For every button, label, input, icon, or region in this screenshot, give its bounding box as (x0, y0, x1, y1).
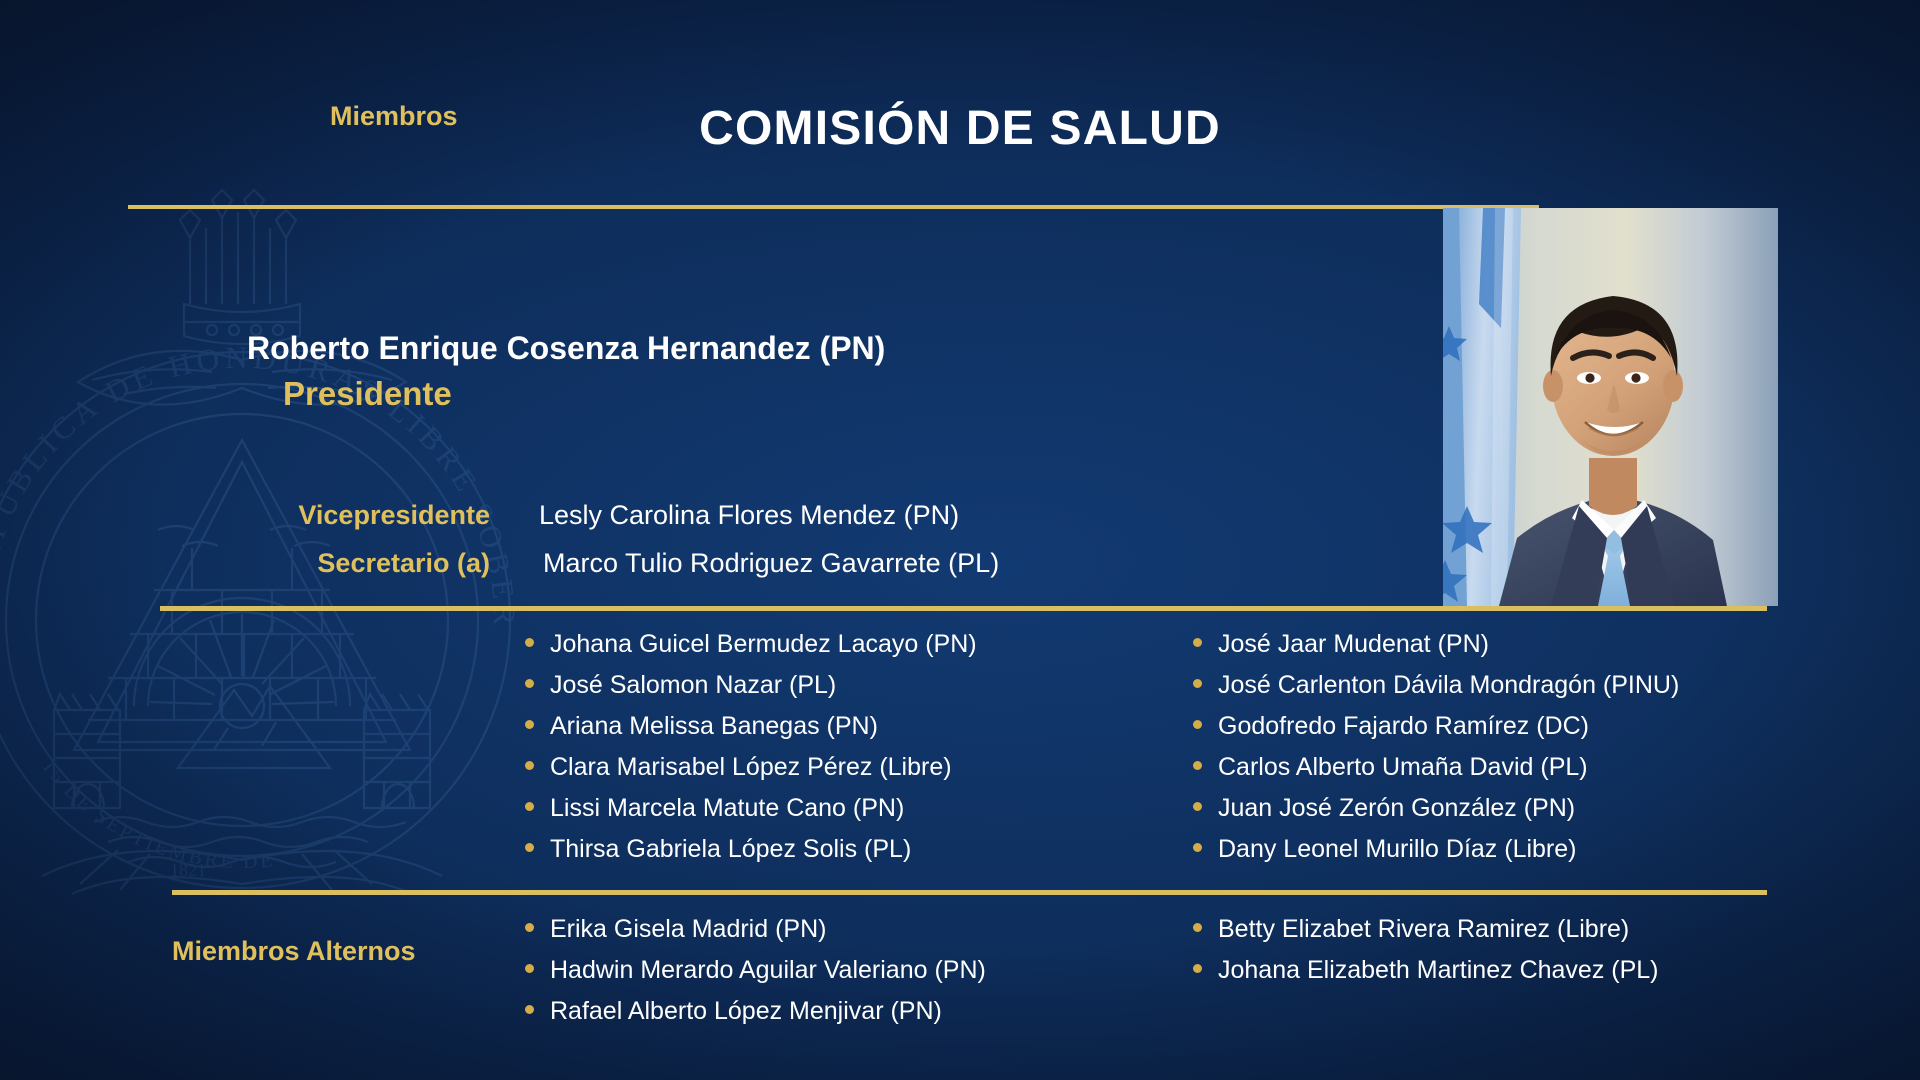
member-name: Ariana Melissa Banegas (PN) (550, 712, 878, 741)
president-name: Roberto Enrique Cosenza Hernandez (PN) (247, 330, 885, 367)
officer-label-vicepresidente: Vicepresidente (240, 500, 490, 531)
member-name: Clara Marisabel López Pérez (Libre) (550, 753, 952, 782)
bullet-icon (1193, 802, 1202, 811)
president-photo (1443, 208, 1778, 606)
president-role-label: Presidente (283, 375, 885, 413)
officer-label-secretario: Secretario (a) (240, 548, 490, 579)
divider-middle (160, 606, 1767, 611)
list-item: Godofredo Fajardo Ramírez (DC) (1193, 712, 1679, 741)
list-item: Juan José Zerón González (PN) (1193, 794, 1679, 823)
bullet-icon (525, 638, 534, 647)
list-item: Ariana Melissa Banegas (PN) (525, 712, 977, 741)
member-name: Dany Leonel Murillo Díaz (Libre) (1218, 835, 1576, 864)
page-title: COMISIÓN DE SALUD (0, 101, 1920, 156)
list-item: Carlos Alberto Umaña David (PL) (1193, 753, 1679, 782)
bullet-icon (525, 802, 534, 811)
bullet-icon (1193, 761, 1202, 770)
member-name: José Carlenton Dávila Mondragón (PINU) (1218, 671, 1679, 700)
svg-text:1821: 1821 (170, 860, 206, 880)
alternates-column-left: Erika Gisela Madrid (PN) Hadwin Merardo … (525, 915, 986, 1038)
bullet-icon (1193, 720, 1202, 729)
members-column-right: José Jaar Mudenat (PN) José Carlenton Dá… (1193, 630, 1679, 876)
member-name: Carlos Alberto Umaña David (PL) (1218, 753, 1588, 782)
bullet-icon (525, 761, 534, 770)
officer-row-vicepresidente: Vicepresidente Lesly Carolina Flores Men… (240, 500, 959, 531)
officer-row-secretario: Secretario (a) Marco Tulio Rodriguez Gav… (240, 548, 999, 579)
bullet-icon (525, 843, 534, 852)
officer-name-vicepresidente: Lesly Carolina Flores Mendez (PN) (539, 500, 959, 531)
bullet-icon (1193, 679, 1202, 688)
divider-bottom (172, 890, 1767, 895)
members-column-left: Johana Guicel Bermudez Lacayo (PN) José … (525, 630, 977, 876)
alternate-name: Rafael Alberto López Menjivar (PN) (550, 997, 942, 1026)
list-item: Rafael Alberto López Menjivar (PN) (525, 997, 986, 1026)
list-item: Thirsa Gabriela López Solis (PL) (525, 835, 977, 864)
list-item: Hadwin Merardo Aguilar Valeriano (PN) (525, 956, 986, 985)
divider-top (128, 205, 1539, 209)
list-item: Lissi Marcela Matute Cano (PN) (525, 794, 977, 823)
member-name: Thirsa Gabriela López Solis (PL) (550, 835, 911, 864)
member-name: Juan José Zerón González (PN) (1218, 794, 1575, 823)
bullet-icon (525, 720, 534, 729)
list-item: Johana Elizabeth Martinez Chavez (PL) (1193, 956, 1659, 985)
bullet-icon (1193, 923, 1202, 932)
svg-text:15 DE SEPTIEMBRE DE: 15 DE SEPTIEMBRE DE (37, 755, 276, 873)
member-name: José Salomon Nazar (PL) (550, 671, 836, 700)
member-name: Godofredo Fajardo Ramírez (DC) (1218, 712, 1589, 741)
bullet-icon (1193, 843, 1202, 852)
member-name: Lissi Marcela Matute Cano (PN) (550, 794, 904, 823)
alternate-name: Johana Elizabeth Martinez Chavez (PL) (1218, 956, 1659, 985)
alternates-column-right: Betty Elizabet Rivera Ramirez (Libre) Jo… (1193, 915, 1659, 997)
bullet-icon (525, 964, 534, 973)
list-item: José Salomon Nazar (PL) (525, 671, 977, 700)
list-item: Dany Leonel Murillo Díaz (Libre) (1193, 835, 1679, 864)
alternate-name: Hadwin Merardo Aguilar Valeriano (PN) (550, 956, 986, 985)
member-name: José Jaar Mudenat (PN) (1218, 630, 1489, 659)
list-item: Erika Gisela Madrid (PN) (525, 915, 986, 944)
list-item: Clara Marisabel López Pérez (Libre) (525, 753, 977, 782)
alternate-name: Erika Gisela Madrid (PN) (550, 915, 826, 944)
bullet-icon (525, 923, 534, 932)
alternates-section-label: Miembros Alternos (172, 936, 416, 967)
alternate-name: Betty Elizabet Rivera Ramirez (Libre) (1218, 915, 1629, 944)
list-item: José Jaar Mudenat (PN) (1193, 630, 1679, 659)
officer-name-secretario: Marco Tulio Rodriguez Gavarrete (PL) (543, 548, 999, 579)
bullet-icon (1193, 964, 1202, 973)
bullet-icon (525, 679, 534, 688)
member-name: Johana Guicel Bermudez Lacayo (PN) (550, 630, 977, 659)
slide-root: REPUBLICA DE HONDURAS LIBRE SOBERANA E I… (0, 0, 1920, 1080)
list-item: Betty Elizabet Rivera Ramirez (Libre) (1193, 915, 1659, 944)
president-block: Roberto Enrique Cosenza Hernandez (PN) P… (247, 330, 885, 413)
bullet-icon (525, 1005, 534, 1014)
list-item: Johana Guicel Bermudez Lacayo (PN) (525, 630, 977, 659)
list-item: José Carlenton Dávila Mondragón (PINU) (1193, 671, 1679, 700)
bullet-icon (1193, 638, 1202, 647)
members-section-label: Miembros (330, 101, 458, 132)
